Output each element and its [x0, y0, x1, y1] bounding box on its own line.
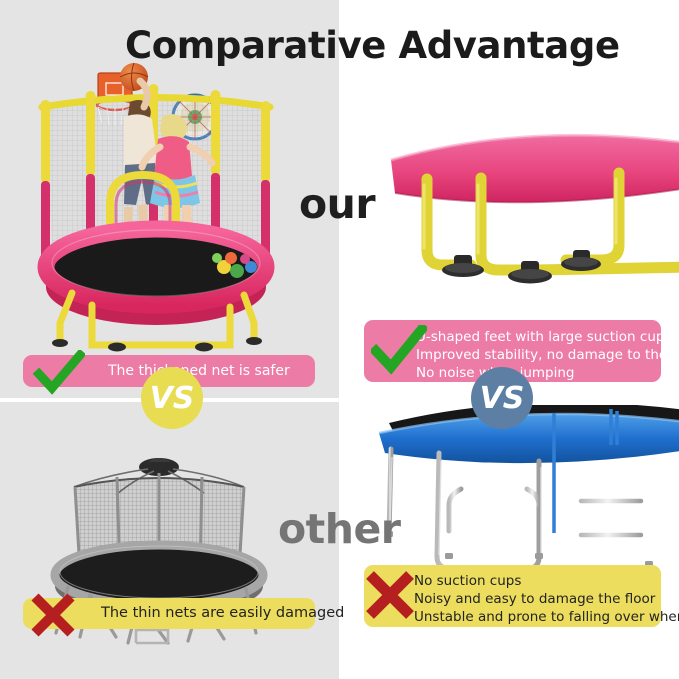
cross-icon — [362, 570, 418, 620]
label-other: other — [278, 505, 400, 553]
banner-other-feet-text: No suction cups Noisy and easy to damage… — [414, 572, 679, 626]
page-title: Comparative Advantage — [125, 24, 620, 67]
vs-badge-right-label: VS — [480, 381, 525, 416]
label-our: our — [299, 180, 375, 228]
banner-line: Unstable and prone to falling over when … — [414, 608, 679, 626]
infographic-canvas: Comparative Advantage our other The thic… — [0, 0, 679, 679]
banner-our-feet-text: U-shaped feet with large suction cups Im… — [416, 328, 679, 382]
chrome-legs — [389, 445, 649, 569]
our-feet-illustration — [361, 115, 679, 315]
our-trampoline-illustration — [12, 55, 302, 355]
pink-frame-pad — [391, 135, 679, 202]
ladder — [581, 457, 641, 575]
banner-our-net-text: The thickened net is safer — [108, 362, 290, 380]
vertical-divider — [339, 0, 341, 679]
banner-other-net-text: The thin nets are easily damaged — [101, 604, 344, 622]
horizontal-divider — [0, 398, 679, 402]
vs-badge-left-label: VS — [150, 381, 195, 416]
banner-line: No suction cups — [414, 572, 679, 590]
suction-cup-feet — [442, 250, 601, 284]
check-icon — [371, 325, 427, 375]
banner-line: Noisy and easy to damage the floor — [414, 590, 679, 608]
banner-line: Improved stability, no damage to the flo… — [416, 346, 679, 364]
vs-badge-left: VS — [141, 367, 203, 429]
banner-line: U-shaped feet with large suction cups — [416, 328, 679, 346]
banner-line: No noise when jumping — [416, 364, 679, 382]
cross-icon — [27, 592, 79, 638]
vs-badge-right: VS — [471, 367, 533, 429]
check-icon — [33, 350, 85, 396]
